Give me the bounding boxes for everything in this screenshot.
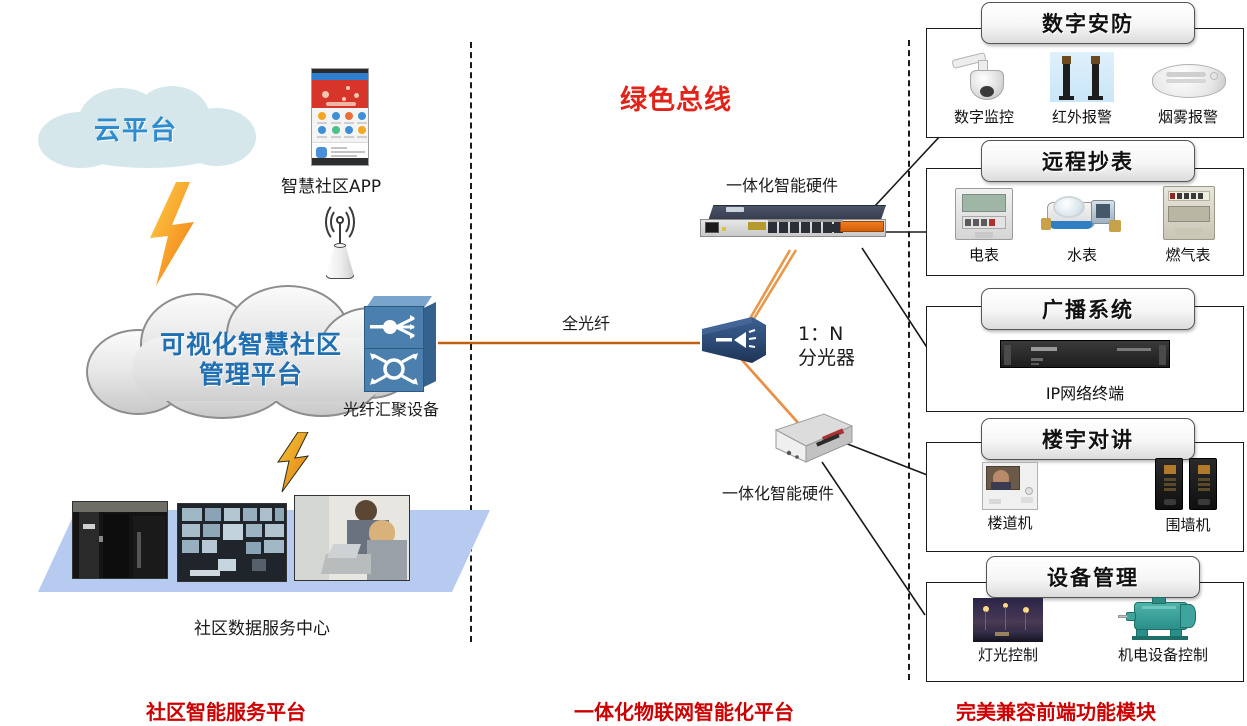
item-caption: 数字监控 [936, 106, 1032, 127]
item-wall-station: 围墙机 [1140, 458, 1236, 535]
management-platform-label: 可视化智慧社区 管理平台 [128, 330, 374, 390]
phone-icon-6 [332, 126, 340, 134]
splitter-name: 分光器 [798, 346, 855, 370]
smart-community-app-label: 智慧社区APP [281, 172, 381, 197]
integrated-hardware-bottom-label: 一体化智能硬件 [722, 480, 834, 504]
item-caption: 围墙机 [1140, 514, 1236, 535]
item-water-meter: 水表 [1034, 188, 1130, 265]
integrated-hardware-switch [700, 205, 890, 251]
fiber-aggregation-device [358, 296, 440, 400]
item-caption: 电表 [936, 244, 1032, 265]
photo-operators [294, 495, 410, 581]
diagram-canvas: 云平台 [0, 0, 1247, 726]
item-caption: 燃气表 [1140, 244, 1236, 265]
phone-footer-bar [312, 158, 368, 165]
item-infrared-alarm: 红外报警 [1034, 52, 1130, 127]
phone-icon-7 [345, 126, 353, 134]
item-corridor-station: 楼道机 [962, 462, 1058, 533]
bottom-caption-left: 社区智能服务平台 [146, 696, 306, 725]
antenna-base [325, 245, 355, 279]
all-fiber-label: 全光纤 [562, 310, 610, 334]
smoke-alarm-icon [1148, 52, 1228, 104]
phone-icon-8 [358, 126, 366, 134]
item-digital-monitoring: 数字监控 [936, 52, 1032, 127]
item-caption: 红外报警 [1034, 106, 1130, 127]
phone-icon-2 [332, 112, 340, 120]
lightning-bolt-upper [140, 180, 202, 288]
switch-glyph [368, 352, 420, 386]
item-caption: 烟雾报警 [1138, 106, 1238, 127]
item-caption: 灯光控制 [958, 644, 1058, 665]
splitter-label: 1：N 分光器 [798, 322, 855, 370]
electric-motor-icon [1118, 596, 1208, 642]
ip-network-terminal-icon [1000, 340, 1170, 368]
data-center-label: 社区数据服务中心 [194, 614, 330, 639]
item-smoke-alarm: 烟雾报警 [1138, 52, 1238, 127]
item-caption: 水表 [1034, 244, 1130, 265]
bottom-caption-right: 完美兼容前端功能模块 [956, 696, 1156, 725]
phone-icon-5 [318, 126, 326, 134]
item-electromechanical-control: 机电设备控制 [1098, 596, 1228, 665]
item-electric-meter: 电表 [936, 188, 1032, 265]
infrared-alarm-icon [1046, 52, 1118, 104]
item-ip-network-terminal: IP网络终端 [1000, 340, 1170, 404]
electric-meter-icon [951, 188, 1017, 242]
wireless-antenna [305, 205, 379, 281]
water-meter-icon [1039, 188, 1125, 242]
fiber-aggregation-label: 光纤汇聚设备 [343, 396, 439, 420]
phone-icon-4 [358, 112, 366, 120]
gas-meter-icon [1157, 186, 1219, 242]
phone-icon-1 [318, 112, 326, 120]
panel-title-building-intercom: 楼宇对讲 [981, 418, 1195, 460]
panel-title-digital-security: 数字安防 [981, 2, 1195, 44]
optical-splitter-device [700, 315, 768, 365]
splitter-ratio: 1：N [798, 322, 855, 346]
lightning-bolt-lower [272, 432, 314, 494]
corridor-station-icon [982, 462, 1038, 510]
ptz-camera-icon [944, 52, 1024, 104]
panel-title-remote-meter-reading: 远程抄表 [981, 140, 1195, 182]
platform-label-line2: 管理平台 [128, 360, 374, 390]
bottom-caption-middle: 一体化物联网智能化平台 [574, 696, 794, 725]
green-bus-title: 绿色总线 [620, 78, 732, 117]
antenna-top-ellipse [334, 243, 346, 248]
integrated-hardware-top-label: 一体化智能硬件 [726, 172, 838, 196]
panel-title-broadcast-system: 广播系统 [981, 288, 1195, 330]
item-lighting-control: 灯光控制 [958, 598, 1058, 665]
item-caption: 楼道机 [962, 512, 1058, 533]
phone-icon-3 [345, 112, 353, 120]
phone-banner [312, 80, 368, 108]
wall-station-icon [1153, 458, 1223, 512]
item-gas-meter: 燃气表 [1140, 186, 1236, 265]
item-caption: 机电设备控制 [1098, 644, 1228, 665]
item-caption: IP网络终端 [1000, 380, 1170, 404]
smart-community-app-phone [311, 68, 369, 166]
panel-title-equipment-management: 设备管理 [986, 556, 1200, 598]
photo-monitor-wall [177, 503, 287, 582]
divider-right [908, 40, 910, 680]
photo-server-room [72, 501, 168, 579]
platform-label-line1: 可视化智慧社区 [128, 330, 374, 360]
splitter-glyph [368, 312, 420, 342]
cloud-platform-label: 云平台 [94, 110, 178, 147]
phone-nav-bar [312, 73, 368, 80]
street-light-icon [973, 598, 1043, 642]
integrated-hardware-box [772, 412, 854, 468]
